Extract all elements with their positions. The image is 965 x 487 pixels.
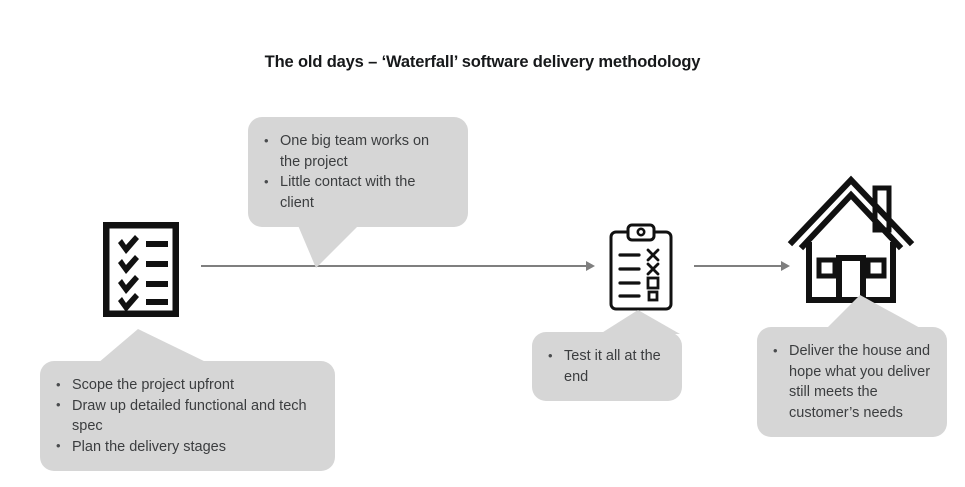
house-icon: [787, 172, 915, 312]
flow-arrow-1-line: [201, 265, 587, 267]
bubble-deliver-tail: [826, 295, 922, 331]
bubble-team-item: One big team works on the project: [262, 131, 452, 172]
bubble-test-tail: [600, 310, 680, 336]
bubble-test: Test it all at the end: [532, 332, 682, 401]
bubble-scope-item: Scope the project upfront: [54, 375, 319, 396]
bubble-scope: Scope the project upfront Draw up detail…: [40, 361, 335, 471]
waterfall-diagram: The old days – ‘Waterfall’ software deli…: [0, 0, 965, 487]
bubble-team-tail: [294, 216, 364, 268]
checklist-icon: [103, 222, 179, 317]
bubble-scope-item: Plan the delivery stages: [54, 437, 319, 458]
bubble-test-item: Test it all at the end: [546, 346, 666, 387]
clipboard-test-icon: [608, 222, 674, 312]
bubble-scope-item: Draw up detailed functional and tech spe…: [54, 396, 319, 437]
bubble-scope-tail: [98, 329, 208, 365]
bubble-deliver-item: Deliver the house and hope what you deli…: [771, 341, 931, 423]
page-title: The old days – ‘Waterfall’ software deli…: [0, 53, 965, 72]
bubble-deliver: Deliver the house and hope what you deli…: [757, 327, 947, 437]
bubble-team-item: Little contact with the client: [262, 172, 452, 213]
bubble-team: One big team works on the project Little…: [248, 117, 468, 227]
flow-arrow-2-line: [694, 265, 782, 267]
flow-arrow-1-head: [586, 261, 595, 271]
